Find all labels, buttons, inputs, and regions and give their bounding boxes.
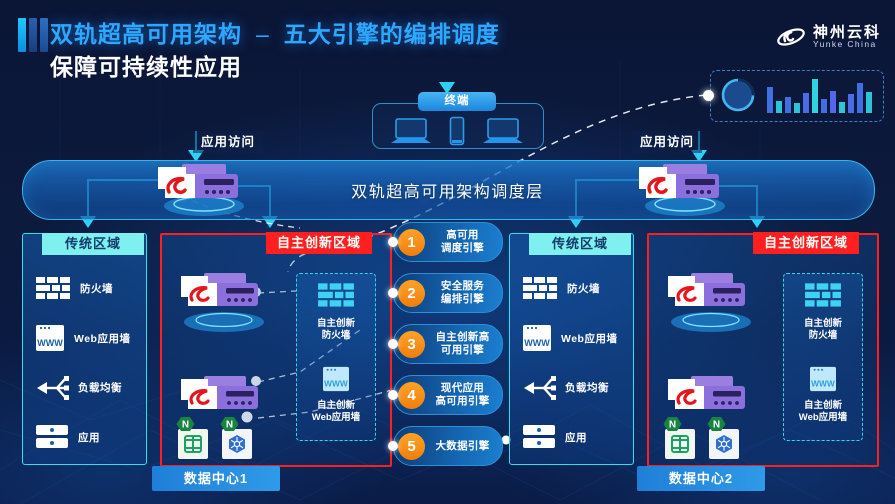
engine-number: 4 xyxy=(398,382,425,409)
engine-label-5: 大数据引擎 xyxy=(425,440,502,453)
application-server-icon xyxy=(522,424,556,450)
platform-icons-1: N N xyxy=(174,415,284,470)
engine-item-1[interactable]: 1 高可用调度引擎 xyxy=(393,222,503,262)
engine-number: 2 xyxy=(398,280,425,307)
band-server-left xyxy=(152,160,248,221)
datacenter-1: 传统区域 防火墙 WWW Web应用墙 负载均衡 应用 xyxy=(14,225,394,470)
engine-connector-dot xyxy=(388,441,398,451)
brand-name-en: Yunke China xyxy=(813,40,881,49)
accent-bar xyxy=(18,18,26,52)
laptop-icon xyxy=(482,116,524,146)
svg-text:WWW: WWW xyxy=(524,338,550,348)
engine-label-4: 现代应用高可用引擎 xyxy=(425,382,502,408)
svg-text:WWW: WWW xyxy=(811,378,835,388)
engine-connector-dot xyxy=(388,390,398,400)
engine-item-4[interactable]: 4 现代应用高可用引擎 xyxy=(393,375,503,415)
laptop-icon xyxy=(390,116,432,146)
page-title-main: 双轨超高可用架构 xyxy=(50,21,242,47)
brand-logo-text: 神州云科 Yunke China xyxy=(813,25,881,50)
innovation-waf-label-1: 自主创新Web应用墙 xyxy=(297,400,375,424)
list-item[interactable]: 应用 xyxy=(510,416,633,458)
list-item-label: 防火墙 xyxy=(80,281,113,296)
accent-bar xyxy=(29,18,37,52)
engine-number: 1 xyxy=(398,229,425,256)
innovation-firewall-label-2: 自主创新防火墙 xyxy=(784,318,862,342)
page-title: 双轨超高可用架构–五大引擎的编排调度 xyxy=(50,15,500,49)
list-item-label: 负载均衡 xyxy=(565,380,609,395)
web-app-firewall-icon: WWW xyxy=(35,324,65,352)
innovation-waf-label-2: 自主创新Web应用墙 xyxy=(784,400,862,424)
list-item[interactable]: 负载均衡 xyxy=(510,367,633,409)
engine-item-5[interactable]: 5 大数据引擎 xyxy=(393,426,503,466)
datacenter-2-footer: 数据中心2 xyxy=(637,466,765,491)
innovation-server-top-1 xyxy=(176,270,272,339)
svg-text:WWW: WWW xyxy=(37,338,63,348)
phone-icon xyxy=(449,116,465,146)
monitoring-bars xyxy=(767,79,872,113)
list-item[interactable]: 防火墙 xyxy=(23,268,146,310)
list-item[interactable]: 防火墙 xyxy=(510,268,633,310)
engine-connector-dot xyxy=(388,288,398,298)
innovation-zone-label-2: 自主创新区域 xyxy=(753,232,859,254)
terminal-devices xyxy=(372,108,542,146)
accent-bar xyxy=(40,18,48,52)
svg-text:N: N xyxy=(226,420,233,431)
monitor-connector-dot xyxy=(703,90,714,101)
web-app-firewall-icon: WWW xyxy=(322,366,350,392)
svg-text:N: N xyxy=(713,420,720,431)
load-balancer-icon xyxy=(35,374,69,402)
list-item-label: Web应用墙 xyxy=(74,331,130,346)
innovation-server-top-2 xyxy=(663,270,759,339)
firewall-brick-icon xyxy=(35,276,71,302)
traditional-items: 防火墙 WWW Web应用墙 负载均衡 应用 xyxy=(510,264,633,462)
engine-item-2[interactable]: 2 安全服务编排引擎 xyxy=(393,273,503,313)
page-title-sub: 五大引擎的编排调度 xyxy=(284,21,500,47)
engine-label-1: 高可用调度引擎 xyxy=(425,229,502,255)
innovation-firewall-2[interactable]: 自主创新防火墙 xyxy=(784,282,862,342)
engine-connector-dot xyxy=(388,339,398,349)
access-label-left: 应用访问 xyxy=(193,131,263,153)
innovation-waf-1[interactable]: WWW 自主创新Web应用墙 xyxy=(297,366,375,424)
engine-number: 5 xyxy=(398,433,425,460)
monitoring-dashboard-box xyxy=(710,70,884,122)
monitoring-chart xyxy=(711,71,879,118)
swirl-logo-icon xyxy=(776,24,806,50)
firewall-brick-icon xyxy=(317,282,355,310)
list-item-label: 负载均衡 xyxy=(78,380,122,395)
innovation-security-box-1: 自主创新防火墙 WWW 自主创新Web应用墙 xyxy=(296,273,376,441)
svg-text:WWW: WWW xyxy=(324,378,348,388)
brand-name-cn: 神州云科 xyxy=(813,25,881,41)
traditional-zone-label: 传统区域 xyxy=(42,233,144,255)
slide-canvas: 双轨超高可用架构–五大引擎的编排调度 保障可持续性应用 神州云科 Yunke C… xyxy=(0,0,895,504)
list-item[interactable]: WWW Web应用墙 xyxy=(510,317,633,359)
engine-item-3[interactable]: 3 自主创新高可用引擎 xyxy=(393,324,503,364)
list-item[interactable]: 负载均衡 xyxy=(23,367,146,409)
access-label-right: 应用访问 xyxy=(632,131,702,153)
page-subtitle: 保障可持续性应用 xyxy=(50,48,242,82)
innovation-zone-label-1: 自主创新区域 xyxy=(266,232,372,254)
list-item[interactable]: 应用 xyxy=(23,416,146,458)
list-item-label: 防火墙 xyxy=(567,281,600,296)
brand-logo: 神州云科 Yunke China xyxy=(776,24,881,50)
innovation-firewall-1[interactable]: 自主创新防火墙 xyxy=(297,282,375,342)
svg-text:N: N xyxy=(182,420,189,431)
load-balancer-icon xyxy=(522,374,556,402)
list-item-label: 应用 xyxy=(565,430,587,445)
innovation-firewall-label-1: 自主创新防火墙 xyxy=(297,318,375,342)
title-accent-bars xyxy=(18,18,48,52)
datacenter-2: 传统区域 防火墙 WWW Web应用墙 负载均衡 应用 xyxy=(501,225,881,470)
engine-label-3: 自主创新高可用引擎 xyxy=(425,331,502,357)
traditional-items: 防火墙 WWW Web应用墙 负载均衡 应用 xyxy=(23,264,146,462)
firewall-brick-icon xyxy=(804,282,842,310)
band-server-right xyxy=(633,160,729,221)
svg-text:N: N xyxy=(669,420,676,431)
innovation-waf-2[interactable]: WWW 自主创新Web应用墙 xyxy=(784,366,862,424)
engine-number: 3 xyxy=(398,331,425,358)
page-title-dash: – xyxy=(242,21,284,47)
traditional-zone-1[interactable]: 传统区域 防火墙 WWW Web应用墙 负载均衡 应用 xyxy=(22,233,147,465)
engine-connector-dot xyxy=(388,237,398,247)
platform-icons-2: N N xyxy=(661,415,771,470)
web-app-firewall-icon: WWW xyxy=(809,366,837,392)
innovation-security-box-2: 自主创新防火墙 WWW 自主创新Web应用墙 xyxy=(783,273,863,441)
list-item-label: 应用 xyxy=(78,430,100,445)
datacenter-1-footer: 数据中心1 xyxy=(152,466,280,491)
traditional-zone-2[interactable]: 传统区域 防火墙 WWW Web应用墙 负载均衡 应用 xyxy=(509,233,634,465)
list-item[interactable]: WWW Web应用墙 xyxy=(23,317,146,359)
engine-list: 1 高可用调度引擎 2 安全服务编排引擎 3 自主创新高可用引擎 4 现代应用高… xyxy=(393,222,501,466)
traditional-zone-label: 传统区域 xyxy=(529,233,631,255)
web-app-firewall-icon: WWW xyxy=(522,324,552,352)
application-server-icon xyxy=(35,424,69,450)
engine-label-2: 安全服务编排引擎 xyxy=(425,280,502,306)
scheduling-band-label: 双轨超高可用架构调度层 xyxy=(0,178,895,202)
firewall-brick-icon xyxy=(522,276,558,302)
list-item-label: Web应用墙 xyxy=(561,331,617,346)
